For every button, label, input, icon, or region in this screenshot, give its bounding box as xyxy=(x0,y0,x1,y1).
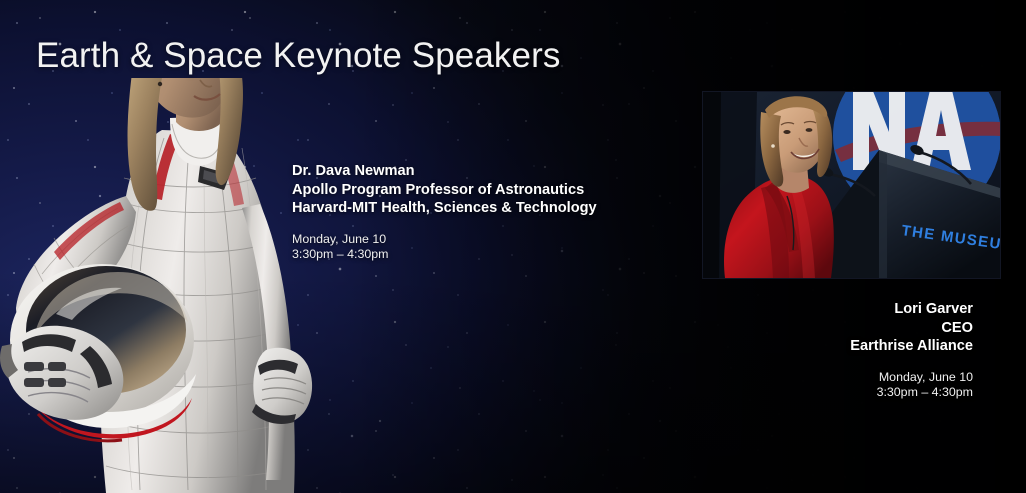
speaker-name: Dr. Dava Newman xyxy=(292,162,597,181)
session-time: 3:30pm – 4:30pm xyxy=(292,247,597,263)
presentation-slide: Earth & Space Keynote Speakers xyxy=(0,0,1026,493)
speaker-role: Apollo Program Professor of Astronautics xyxy=(292,181,597,200)
session-time: 3:30pm – 4:30pm xyxy=(850,385,973,401)
session-date: Monday, June 10 xyxy=(850,370,973,386)
speaker-role: CEO xyxy=(850,319,973,338)
page-title: Earth & Space Keynote Speakers xyxy=(36,36,560,76)
spacer xyxy=(292,218,597,232)
speaker-info-lori-garver: Lori Garver CEO Earthrise Alliance Monda… xyxy=(850,300,973,401)
session-date: Monday, June 10 xyxy=(292,232,597,248)
speaker-affiliation: Harvard-MIT Health, Sciences & Technolog… xyxy=(292,199,597,218)
speaker-info-dava-newman: Dr. Dava Newman Apollo Program Professor… xyxy=(292,162,597,263)
spacer xyxy=(850,356,973,370)
speaker-affiliation: Earthrise Alliance xyxy=(850,337,973,356)
speaker-photo-lori-garver: THE MUSEUM xyxy=(703,92,1000,278)
speaker-name: Lori Garver xyxy=(850,300,973,319)
